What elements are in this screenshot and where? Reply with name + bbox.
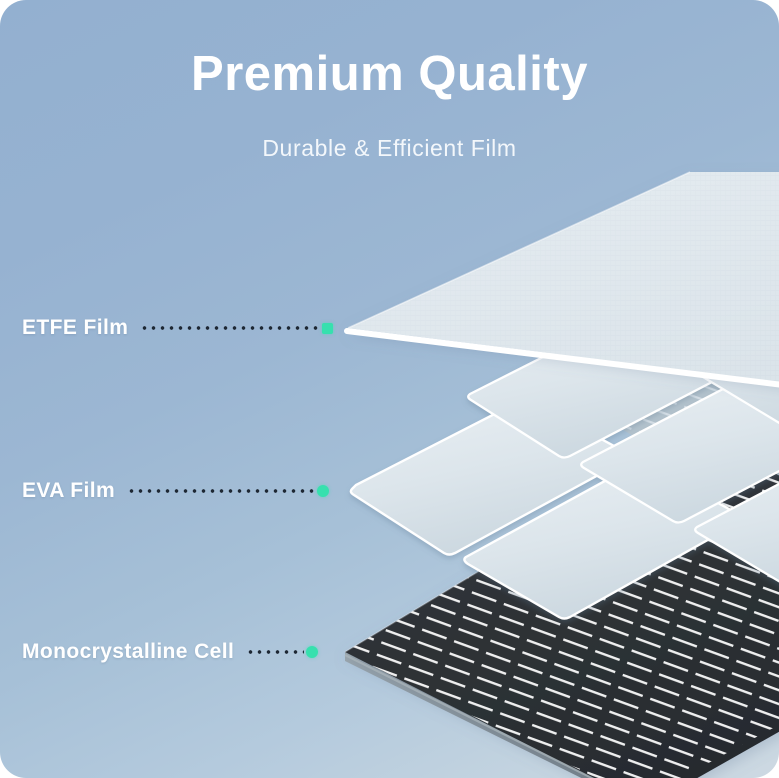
- product-feature-graphic: Premium Quality Durable & Efficient Film…: [0, 0, 779, 778]
- callout-monocrystalline-cell: Monocrystalline Cell: [22, 640, 318, 664]
- marker-cell: [306, 646, 318, 658]
- marker-eva: [317, 485, 329, 497]
- callout-etfe-film: ETFE Film: [22, 316, 333, 340]
- callout-eva-film: EVA Film: [22, 479, 329, 503]
- leader-line-etfe: [140, 326, 320, 330]
- leader-line-eva: [127, 489, 315, 493]
- callout-label-eva-film: EVA Film: [22, 479, 115, 503]
- marker-etfe: [322, 323, 333, 334]
- callout-label-etfe-film: ETFE Film: [22, 316, 128, 340]
- callout-label-monocrystalline-cell: Monocrystalline Cell: [22, 640, 234, 664]
- leader-line-cell: [246, 650, 304, 654]
